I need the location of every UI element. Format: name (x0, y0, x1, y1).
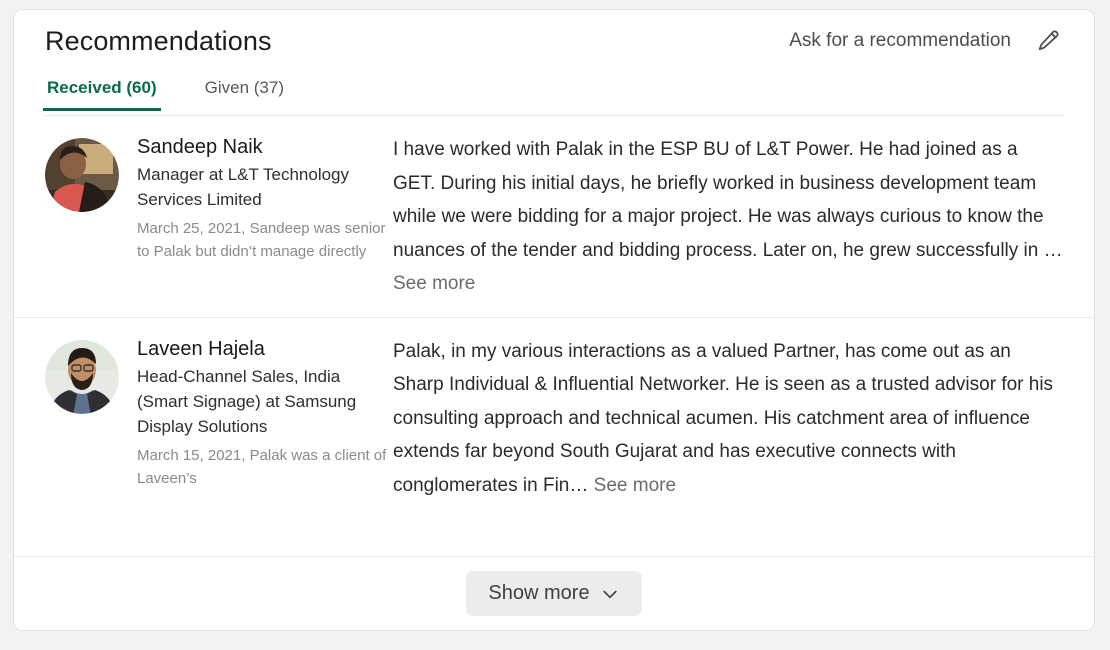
recommender-name[interactable]: Laveen Hajela (137, 335, 387, 363)
recommendation-body: I have worked with Palak in the ESP BU o… (393, 139, 1063, 261)
recommendation-meta: March 25, 2021, Sandeep was senior to Pa… (137, 217, 387, 263)
tab-given[interactable]: Given (37) (203, 72, 286, 111)
recommendation-item: Laveen Hajela Head-Channel Sales, India … (14, 317, 1094, 519)
recommender-headline: Manager at L&T Technology Services Limit… (137, 162, 387, 212)
recommendations-card: Recommendations Ask for a recommendation… (13, 9, 1095, 631)
card-footer: Show more (14, 556, 1094, 630)
recommender-info: Sandeep Naik Manager at L&T Technology S… (119, 133, 387, 263)
recommender-info: Laveen Hajela Head-Channel Sales, India … (119, 335, 387, 490)
recommendations-tabs: Received (60) Given (37) (45, 72, 1063, 116)
recommendation-body: Palak, in my various interactions as a v… (393, 341, 1053, 496)
show-more-label: Show more (488, 582, 589, 605)
see-more-link[interactable]: See more (393, 273, 475, 294)
show-more-button[interactable]: Show more (466, 571, 641, 616)
recommender-headline: Head-Channel Sales, India (Smart Signage… (137, 364, 387, 439)
avatar[interactable] (45, 138, 119, 212)
header-actions: Ask for a recommendation (789, 26, 1063, 56)
chevron-down-icon (600, 584, 620, 604)
recommendation-meta: March 15, 2021, Palak was a client of La… (137, 444, 387, 490)
pencil-icon[interactable] (1033, 26, 1063, 56)
recommendations-list: Sandeep Naik Manager at L&T Technology S… (14, 116, 1094, 518)
page-title: Recommendations (45, 26, 272, 57)
recommendation-item: Sandeep Naik Manager at L&T Technology S… (14, 116, 1094, 317)
avatar[interactable] (45, 340, 119, 414)
tab-received[interactable]: Received (60) (45, 72, 159, 111)
recommendation-text: Palak, in my various interactions as a v… (387, 335, 1063, 503)
see-more-link[interactable]: See more (594, 475, 676, 496)
recommender-name[interactable]: Sandeep Naik (137, 133, 387, 161)
ask-for-recommendation-link[interactable]: Ask for a recommendation (789, 30, 1011, 52)
card-header: Recommendations Ask for a recommendation (14, 10, 1094, 72)
recommendation-text: I have worked with Palak in the ESP BU o… (387, 133, 1063, 301)
